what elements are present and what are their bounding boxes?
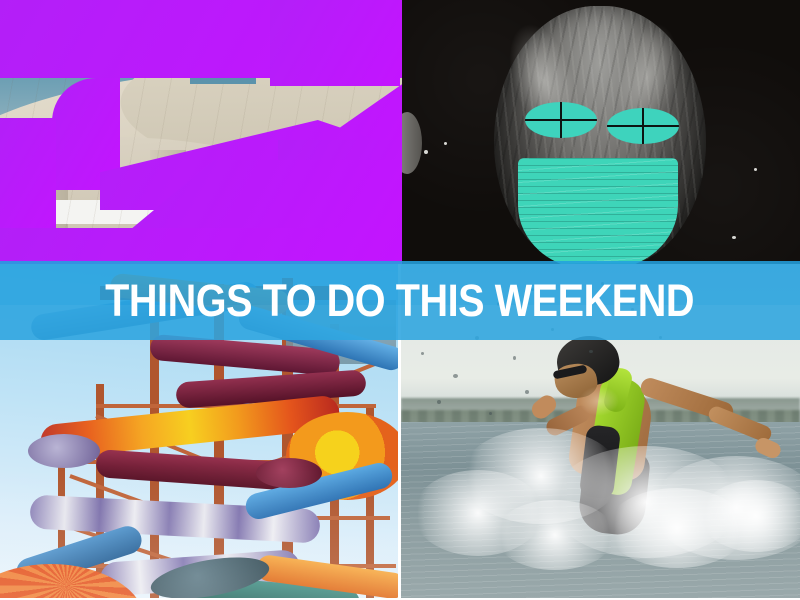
eye-right: [607, 108, 679, 144]
magenta-mask-bottom: [0, 228, 402, 264]
eye-left: [525, 102, 597, 138]
face-head: [494, 6, 706, 264]
weekend-banner[interactable]: THINGS TO DO THIS WEEKEND: [0, 261, 800, 340]
surgical-mask: [518, 158, 678, 264]
magenta-mask-upper-right: [270, 0, 400, 86]
panel-masked-face-artwork[interactable]: [402, 0, 800, 264]
panel-divider-vertical: [398, 340, 401, 600]
weekend-collage: THINGS TO DO THIS WEEKEND: [0, 0, 800, 600]
banner-title: THINGS TO DO THIS WEEKEND: [106, 278, 695, 323]
panel-museum-architecture[interactable]: [0, 0, 402, 264]
